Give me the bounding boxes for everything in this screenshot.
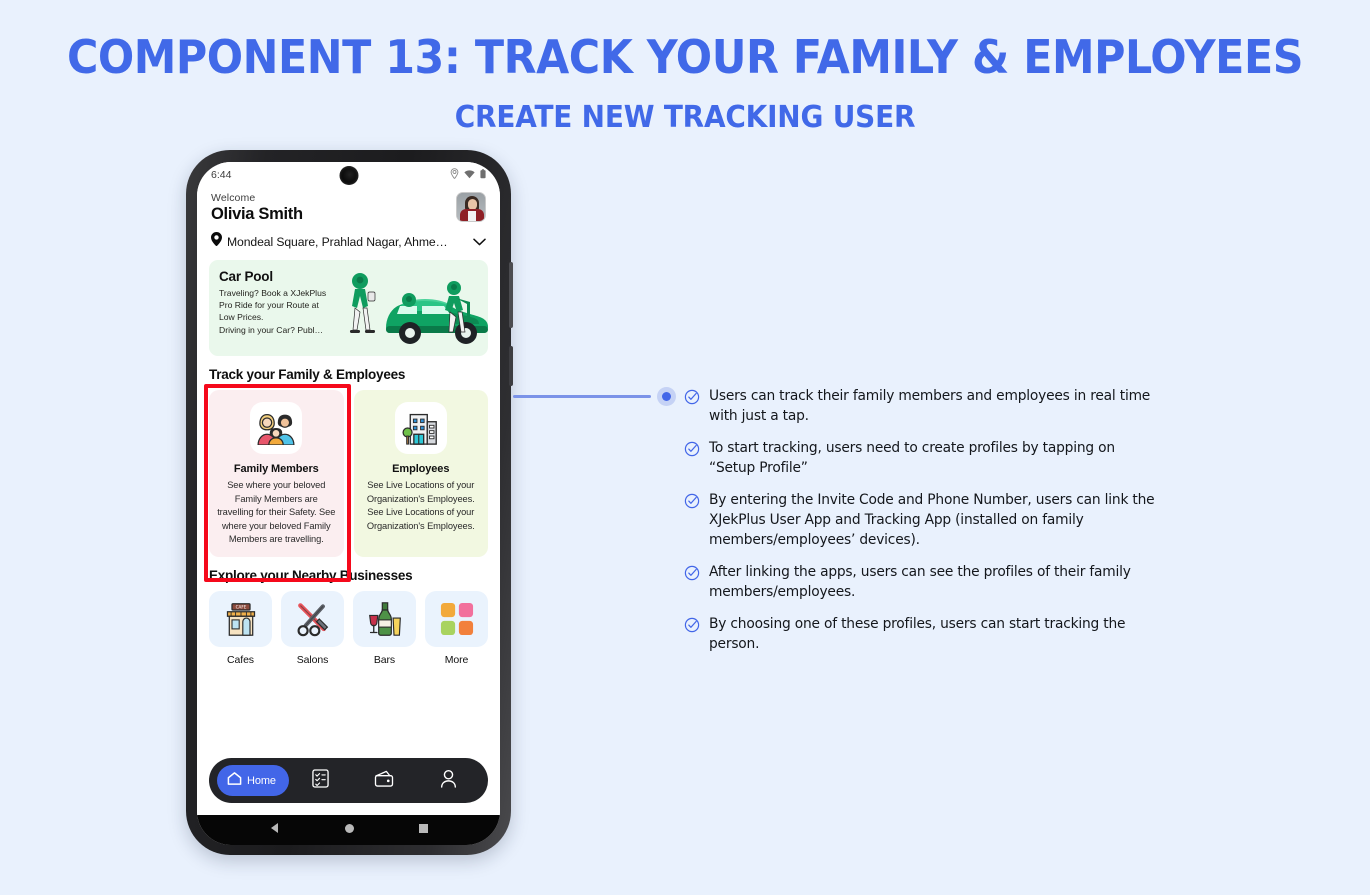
carpool-line-1: Traveling? Book a: [219, 288, 290, 298]
nav-home-label: Home: [247, 775, 276, 787]
home-icon: [227, 771, 242, 791]
bottom-nav-holder: Home: [197, 744, 500, 815]
carpool-banner[interactable]: Car Pool Traveling? Book a XJekPlus Pro …: [209, 260, 488, 356]
back-triangle-icon[interactable]: [269, 821, 281, 839]
list-checklist-icon: [312, 769, 329, 793]
track-card-description: See where your beloved Family Members ar…: [217, 479, 336, 547]
business-section-title: Explore your Nearby Businesses: [209, 568, 488, 583]
carpool-brand: XJekPlus: [290, 288, 326, 298]
status-time: 6:44: [211, 169, 231, 181]
grid-more-icon: [425, 591, 488, 647]
list-item: To start tracking, users need to create …: [684, 438, 1164, 478]
status-icons: [450, 166, 486, 184]
app-content: Car Pool Traveling? Book a XJekPlus Pro …: [197, 260, 500, 744]
track-card-employees[interactable]: Employees See Live Locations of your Org…: [354, 390, 489, 557]
bottom-nav: Home: [209, 758, 488, 803]
check-circle-icon: [684, 617, 700, 638]
callout-connector-line: [513, 395, 651, 398]
business-list: CAFE Cafes: [209, 591, 488, 666]
home-circle-icon[interactable]: [344, 821, 355, 839]
callout-notes-list: Users can track their family members and…: [684, 386, 1164, 666]
person-icon: [440, 769, 457, 793]
track-card-description: See Live Locations of your Organization'…: [362, 479, 481, 533]
carpool-line-4: Driving in your Car? Publ…: [219, 325, 323, 335]
phone-mockup: 6:44 Welcome: [186, 150, 511, 855]
nav-item-orders[interactable]: [289, 769, 353, 793]
track-card-family-members[interactable]: Family Members See where your beloved Fa…: [209, 390, 344, 557]
check-circle-icon: [684, 565, 700, 586]
poster-canvas: COMPONENT 13: TRACK YOUR FAMILY & EMPLOY…: [0, 0, 1370, 895]
check-circle-icon: [684, 493, 700, 514]
carpool-illustration: [338, 270, 488, 354]
map-pin-icon: [211, 232, 222, 251]
track-card-name: Family Members: [234, 463, 319, 475]
svg-text:CAFE: CAFE: [235, 604, 246, 609]
user-name: Olivia Smith: [211, 205, 456, 224]
check-circle-icon: [684, 441, 700, 462]
list-item: By entering the Invite Code and Phone Nu…: [684, 490, 1164, 550]
location-pin-icon: [450, 166, 459, 184]
family-members-icon: [250, 402, 302, 454]
note-text: By entering the Invite Code and Phone Nu…: [709, 490, 1157, 550]
office-building-icon: [395, 402, 447, 454]
carpool-line-2: Pro Ride for your Route at: [219, 300, 319, 310]
carpool-line-3: Low Prices.: [219, 312, 263, 322]
note-text: After linking the apps, users can see th…: [709, 562, 1157, 602]
phone-power-button[interactable]: [509, 262, 513, 328]
track-card-name: Employees: [392, 463, 449, 475]
nav-item-profile[interactable]: [416, 769, 480, 793]
note-text: To start tracking, users need to create …: [709, 438, 1157, 478]
list-item: Users can track their family members and…: [684, 386, 1164, 426]
status-bar: 6:44: [197, 162, 500, 188]
track-cards: Family Members See where your beloved Fa…: [209, 390, 488, 557]
list-item: By choosing one of these profiles, users…: [684, 614, 1164, 654]
note-text: By choosing one of these profiles, users…: [709, 614, 1157, 654]
recents-square-icon[interactable]: [418, 821, 429, 839]
location-text: Mondeal Square, Prahlad Nagar, Ahme…: [227, 235, 468, 249]
salon-scissors-icon: [281, 591, 344, 647]
page-subtitle: CREATE NEW TRACKING USER: [48, 100, 1322, 135]
wifi-icon: [464, 166, 475, 184]
callout-connector-dot: [657, 387, 676, 406]
nav-item-home[interactable]: Home: [217, 765, 289, 796]
battery-icon: [480, 166, 486, 184]
business-item-more[interactable]: More: [425, 591, 488, 666]
android-system-nav: [197, 815, 500, 845]
cafe-icon: CAFE: [209, 591, 272, 647]
business-item-cafes[interactable]: CAFE Cafes: [209, 591, 272, 666]
avatar[interactable]: [456, 192, 486, 222]
check-circle-icon: [684, 389, 700, 410]
nav-item-wallet[interactable]: [353, 770, 417, 792]
chevron-down-icon[interactable]: [473, 233, 486, 251]
bar-bottle-icon: [353, 591, 416, 647]
business-label: Bars: [374, 654, 395, 666]
business-label: More: [445, 654, 469, 666]
business-label: Cafes: [227, 654, 254, 666]
location-selector[interactable]: Mondeal Square, Prahlad Nagar, Ahme…: [211, 224, 486, 260]
phone-screen: 6:44 Welcome: [197, 162, 500, 845]
phone-volume-button[interactable]: [509, 346, 513, 386]
business-item-bars[interactable]: Bars: [353, 591, 416, 666]
page-title: COMPONENT 13: TRACK YOUR FAMILY & EMPLOY…: [48, 30, 1322, 84]
track-section-title: Track your Family & Employees: [209, 367, 488, 382]
business-item-salons[interactable]: Salons: [281, 591, 344, 666]
welcome-label: Welcome: [211, 192, 456, 204]
note-text: Users can track their family members and…: [709, 386, 1157, 426]
camera-punch-hole-icon: [339, 166, 358, 185]
list-item: After linking the apps, users can see th…: [684, 562, 1164, 602]
wallet-icon: [374, 770, 394, 792]
app-header: Welcome Olivia Smith Mondeal Square, Pra…: [197, 188, 500, 260]
business-label: Salons: [297, 654, 329, 666]
